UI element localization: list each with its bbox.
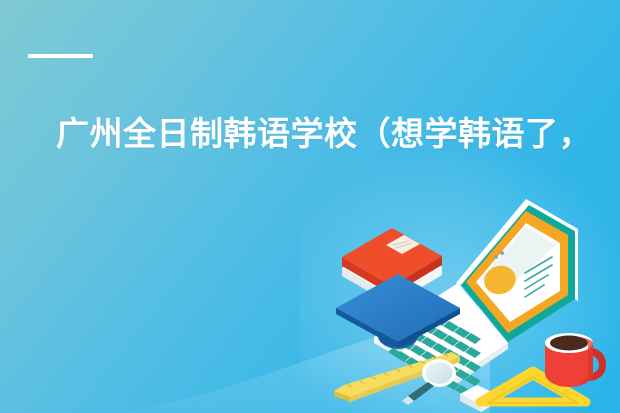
isometric-study-desk-illustration — [330, 195, 620, 413]
coffee-mug-icon — [545, 333, 606, 387]
accent-rule — [28, 54, 93, 58]
promo-banner: 广州全日制韩语学校（想学韩语了， — [0, 0, 620, 413]
page-title: 广州全日制韩语学校（想学韩语了， — [56, 112, 576, 156]
